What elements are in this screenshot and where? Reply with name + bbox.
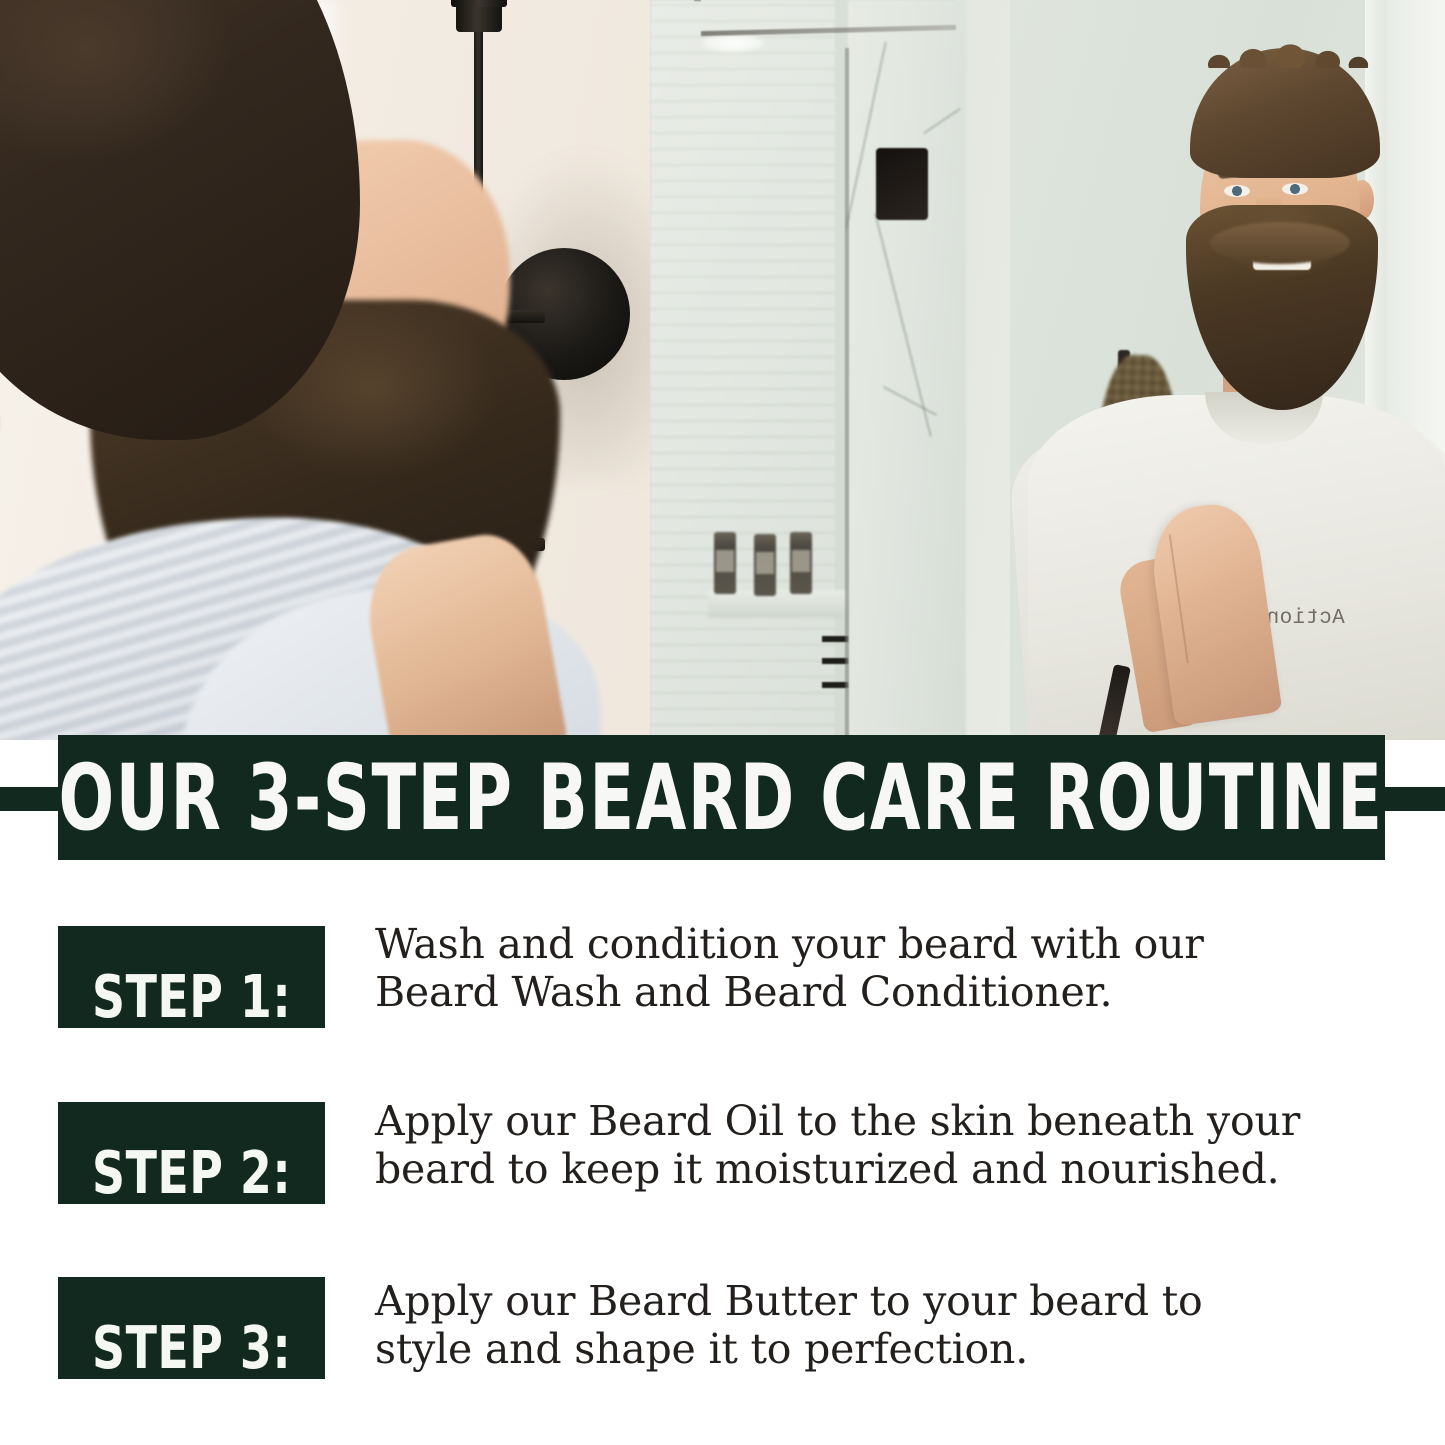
shower-ledge [708,590,848,618]
shower-wall-fixture [876,148,928,220]
step-line: beard to keep it moisturized and nourish… [375,1145,1385,1193]
foreground-man [0,0,450,740]
eye-right [1282,183,1308,195]
shower-glass-panel [650,0,1010,740]
moustache [1210,222,1350,264]
steps-list: STEP 1: Wash and condition your beard wi… [0,905,1445,1445]
mirror-reflection-man: Actions i [1010,0,1445,740]
step-badge-1: STEP 1: [58,926,325,1028]
tile-wall [650,0,835,740]
step-badge-label: STEP 1: [92,968,291,1027]
marble-wall [848,0,966,740]
step-badge-2: STEP 2: [58,1102,325,1204]
step-line: Apply our Beard Oil to the skin beneath … [375,1097,1385,1145]
step-line: Wash and condition your beard with our [375,920,1385,968]
ceiling-light [702,34,764,52]
step-description-2: Apply our Beard Oil to the skin beneath … [375,1097,1385,1194]
eye-left [1224,185,1250,197]
shampoo-bottle [754,534,776,596]
title-banner: OUR 3-STEP BEARD CARE ROUTINE [58,735,1385,860]
step-badge-label: STEP 3: [92,1319,291,1378]
page-title: OUR 3-STEP BEARD CARE ROUTINE [59,752,1384,843]
step-description-3: Apply our Beard Butter to your beard to … [375,1277,1385,1374]
step-line: Beard Wash and Beard Conditioner. [375,968,1385,1016]
infographic-page: Actions i [0,0,1445,1445]
shampoo-bottle [714,532,736,594]
step-description-1: Wash and condition your beard with our B… [375,920,1385,1017]
shampoo-bottle [790,532,812,594]
step-badge-3: STEP 3: [58,1277,325,1379]
step-badge-label: STEP 2: [92,1144,291,1203]
glass-vertical-edge [845,48,849,740]
hero-photo: Actions i [0,0,1445,740]
hair [1190,48,1380,178]
sconce-top-cap [456,0,502,32]
step-line: Apply our Beard Butter to your beard to [375,1277,1385,1325]
step-line: style and shape it to perfection. [375,1325,1385,1373]
